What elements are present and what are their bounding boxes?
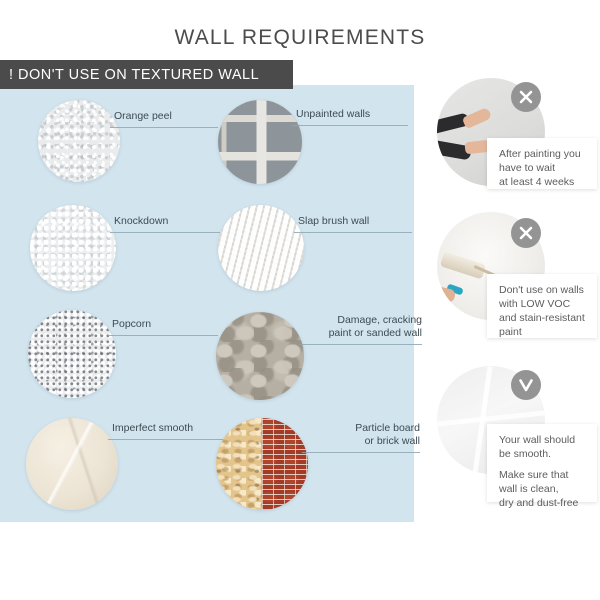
swatch-underline (108, 335, 218, 336)
texture-thumbnail-knockdown (30, 205, 116, 291)
swatch-underline (110, 232, 220, 233)
warning-banner-label: ! DON'T USE ON TEXTURED WALL (9, 67, 259, 83)
particle-board-half (216, 418, 262, 510)
swatch-underline (302, 452, 420, 453)
tip-callout: After painting you have to wait at least… (487, 138, 597, 189)
hand-shape (462, 107, 492, 129)
swatch-label: Unpainted walls (296, 108, 416, 121)
swatch-label: Particle board or brick wall (298, 422, 420, 447)
texture-thumbnail-orange-peel (38, 100, 120, 182)
swatch-label: Orange peel (114, 110, 224, 123)
cross-icon (511, 82, 541, 112)
texture-thumbnail-particle-board-brick (216, 418, 308, 510)
warning-banner: ! DON'T USE ON TEXTURED WALL (0, 60, 293, 89)
swatch-underline (108, 439, 228, 440)
texture-thumbnail-damage-cracking (216, 312, 304, 400)
check-icon (511, 370, 541, 400)
swatch-label: Damage, cracking paint or sanded wall (296, 314, 422, 339)
tip-text-line: Make sure that wall is clean, dry and du… (499, 468, 586, 510)
texture-thumbnail-imperfect-smooth (26, 418, 118, 510)
swatch-underline (300, 344, 422, 345)
tip-text-line: Don't use on walls with LOW VOC and stai… (499, 283, 586, 339)
infographic-root: WALL REQUIREMENTS ! DON'T USE ON TEXTURE… (0, 0, 600, 600)
swatch-imperfect-smooth: Imperfect smooth (26, 418, 118, 510)
tip-text-line: After painting you have to wait at least… (499, 147, 586, 189)
swatch-label: Popcorn (112, 318, 222, 331)
paint-roller-shape (440, 252, 486, 280)
cross-icon (511, 218, 541, 248)
tip-text-line: Your wall should be smooth. (499, 433, 586, 461)
page-title: WALL REQUIREMENTS (0, 26, 600, 50)
swatch-underline (294, 232, 412, 233)
texture-thumbnail-popcorn (28, 310, 116, 398)
swatch-underline (110, 127, 218, 128)
texture-thumbnail-unpainted-walls (218, 100, 302, 184)
texture-thumbnail-slap-brush-wall (218, 205, 304, 291)
swatch-unpainted-walls: Unpainted walls (218, 100, 302, 184)
tip-callout: Your wall should be smooth. Make sure th… (487, 424, 597, 502)
swatch-label: Knockdown (114, 215, 224, 228)
tip-callout: Don't use on walls with LOW VOC and stai… (487, 274, 597, 338)
swatch-underline (292, 125, 408, 126)
swatch-label: Slap brush wall (298, 215, 418, 228)
